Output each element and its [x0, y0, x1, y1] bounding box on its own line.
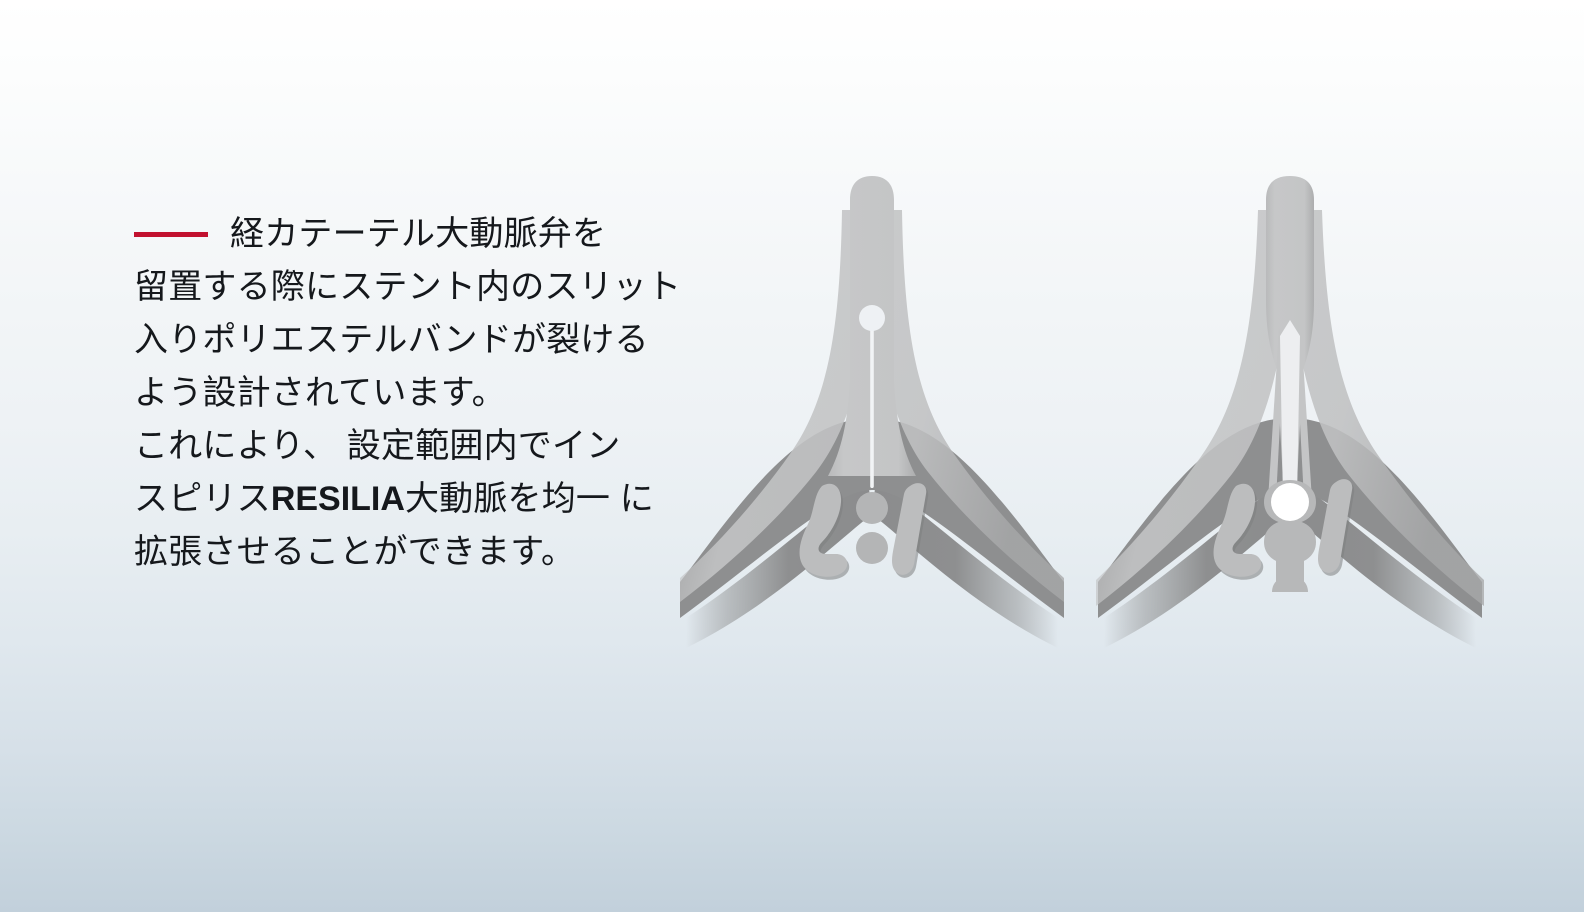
slide-canvas: 経カテーテル大動脈弁を 留置する際にステント内のスリット 入りポリエステルバンド… [0, 0, 1584, 912]
caption-line-2: 留置する際にステント内のスリット [134, 261, 734, 314]
caption-line-4: よう設計されています。 [134, 367, 734, 420]
caption-line-1: 経カテーテル大動脈弁を [134, 208, 734, 261]
eyelet-hole-upper [856, 492, 888, 524]
caption-brand-suffix: 大動脈を均一 に [405, 480, 654, 518]
stent-post-open-illustration [1090, 150, 1490, 690]
caption-line-7: 拡張させることができます。 [134, 526, 734, 579]
brand-name-resilia: RESILIA [271, 480, 405, 518]
expanded-band-scallops [1264, 480, 1316, 592]
figure-stent-post-closed [672, 150, 1072, 690]
commissure-post-split [1266, 176, 1314, 500]
slit-line [870, 318, 874, 488]
stent-post-closed-illustration [672, 150, 1072, 690]
torn-slit-gap [1280, 320, 1300, 500]
caption-line-3: 入りポリエステルバンドが裂ける [134, 314, 734, 367]
caption-line-1-text: 経カテーテル大動脈弁を [230, 208, 606, 261]
slit-top-eyelet-hole [859, 305, 885, 331]
caption-line-5: これにより、 設定範囲内でイン [134, 420, 734, 473]
caption-line-6: スピリスRESILIA大動脈を均一 に [134, 473, 734, 526]
caption-brand-prefix: スピリス [134, 480, 271, 518]
eyelet-holes [856, 492, 888, 564]
accent-dash-icon [134, 232, 208, 237]
caption-block: 経カテーテル大動脈弁を 留置する際にステント内のスリット 入りポリエステルバンド… [134, 208, 734, 579]
eyelet-hole-lower [856, 532, 888, 564]
figure-stent-post-open [1090, 150, 1490, 690]
torn-eyelet-hole [1271, 483, 1309, 521]
